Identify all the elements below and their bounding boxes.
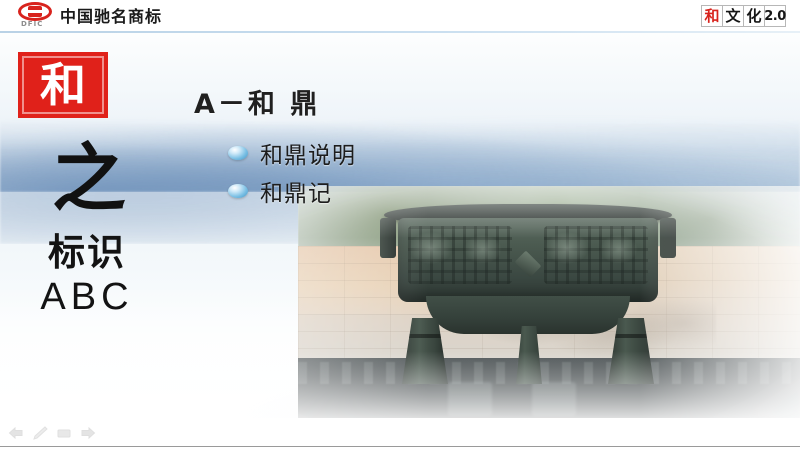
zhi-character: 之 <box>34 146 144 213</box>
brand-label: 中国驰名商标 <box>60 3 162 27</box>
panel-label-cn: 标识 <box>12 234 162 273</box>
panel-label-en: ABC <box>12 278 162 318</box>
dfic-crossbar-shape <box>24 10 46 13</box>
dfic-wordmark: DFIC <box>21 20 43 28</box>
dfic-logo-icon: DFIC <box>18 2 52 28</box>
header-bar: DFIC 中国驰名商标 和 文 化 2.0 <box>0 0 800 32</box>
footer-divider <box>0 446 800 447</box>
badge-cell-version: 2.0 <box>764 5 786 27</box>
bullet-list: 和鼎说明 和鼎记 <box>228 134 356 210</box>
list-item-label: 和鼎记 <box>260 174 332 208</box>
hewenhua-badge: 和 文 化 2.0 <box>702 5 786 27</box>
slide-content: A－和 鼎 和鼎说明 和鼎记 <box>180 34 800 418</box>
seal-character: 和 <box>18 52 108 118</box>
slide-toolbar <box>8 426 96 440</box>
bullet-orb-icon <box>228 146 248 160</box>
badge-cell-he: 和 <box>701 5 723 27</box>
pen-icon[interactable] <box>32 426 48 440</box>
previous-arrow-icon[interactable] <box>8 426 24 440</box>
list-item[interactable]: 和鼎记 <box>228 172 356 210</box>
slide-canvas: DFIC 中国驰名商标 和 文 化 2.0 和 之 标识 ABC A－和 鼎 和… <box>0 0 800 451</box>
identity-panel: 和 之 标识 ABC <box>0 34 176 418</box>
page-title: A－和 鼎 <box>194 82 320 121</box>
list-item[interactable]: 和鼎说明 <box>228 134 356 172</box>
bullet-orb-icon <box>228 184 248 198</box>
badge-cell-hua: 化 <box>743 5 765 27</box>
header-divider <box>0 31 800 33</box>
he-seal-stamp: 和 <box>18 52 108 118</box>
rectangle-icon[interactable] <box>56 426 72 440</box>
brand-block: DFIC 中国驰名商标 <box>18 2 162 28</box>
next-arrow-icon[interactable] <box>80 426 96 440</box>
badge-cell-wen: 文 <box>722 5 744 27</box>
list-item-label: 和鼎说明 <box>260 136 356 170</box>
